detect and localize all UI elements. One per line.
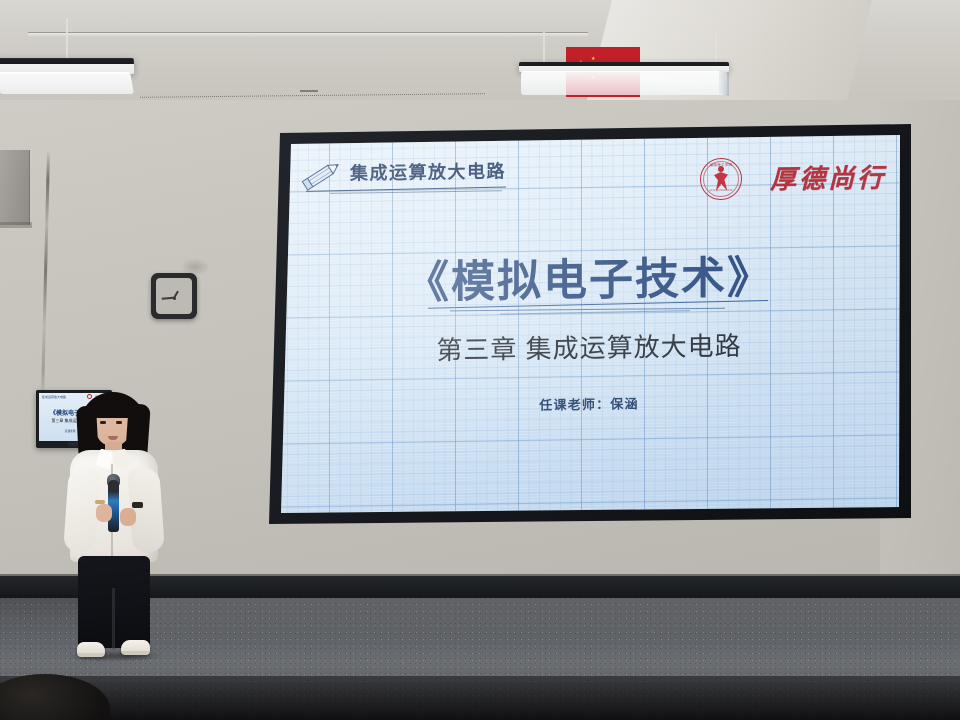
- eye-left: [100, 421, 106, 424]
- light-glow-edge: [719, 70, 729, 96]
- trouser-leg-seam: [112, 588, 115, 650]
- clock-face: [156, 278, 192, 314]
- lecturer: [58, 392, 168, 664]
- wire-clip: [300, 90, 318, 92]
- display-panel: 集成运算放大电路 湖南理工学院 HUNAN INSTITUTE 厚德尚行: [266, 124, 912, 524]
- eye-right: [116, 421, 122, 424]
- hand-left: [96, 504, 112, 522]
- classroom-scene: ★ ★ ★ ★ ★: [0, 0, 960, 720]
- light-glow-panel: [521, 71, 727, 95]
- light-cord: [66, 18, 68, 60]
- bracelet: [95, 500, 105, 504]
- wall-vent-box: [0, 150, 30, 225]
- presentation-display[interactable]: 集成运算放大电路 湖南理工学院 HUNAN INSTITUTE 厚德尚行: [266, 124, 912, 524]
- hand-right: [120, 508, 136, 526]
- light-cord-left: [543, 32, 545, 64]
- shoe-sole-left: [77, 653, 105, 657]
- clock-center-pin: [173, 297, 176, 300]
- ceiling-seam-highlight: [28, 33, 588, 37]
- wall-vent-shadow: [0, 222, 32, 228]
- shoe-right: [121, 640, 150, 655]
- shoe-left: [77, 642, 105, 657]
- wristwatch: [132, 502, 143, 508]
- light-glow-panel: [0, 72, 134, 94]
- wall-clock: [151, 273, 197, 319]
- floor-reflection: [150, 596, 960, 636]
- light-cord-right: [715, 32, 717, 64]
- shoe-sole-right: [121, 651, 150, 655]
- screen-glare: [266, 124, 912, 524]
- foreground-shadow: [0, 676, 960, 720]
